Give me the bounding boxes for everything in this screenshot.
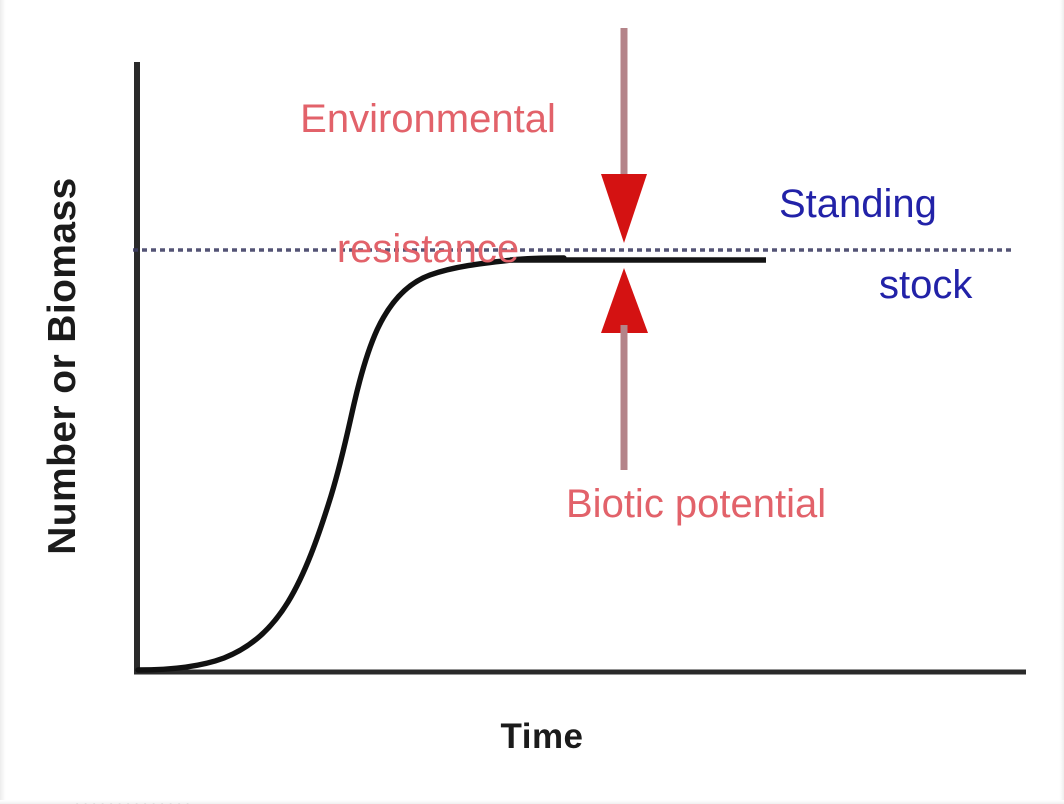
y-axis-label: Number or Biomass [42,156,84,576]
standing-stock-label-line2: stock [879,264,1059,307]
standing-stock-label-line1: Standing [779,183,1049,226]
environmental-resistance-arrow-head [601,174,647,243]
x-axis-label: Time [392,718,692,756]
environmental-resistance-label-line2: resistance [255,228,601,271]
environmental-resistance-label: Environmental resistance [255,12,601,358]
environmental-resistance-label-line1: Environmental [255,98,601,141]
biotic-potential-arrow-head [601,268,648,333]
figure-canvas: Number or Biomass Time Environmental res… [0,0,1064,804]
biotic-potential-label: Biotic potential [566,483,950,526]
